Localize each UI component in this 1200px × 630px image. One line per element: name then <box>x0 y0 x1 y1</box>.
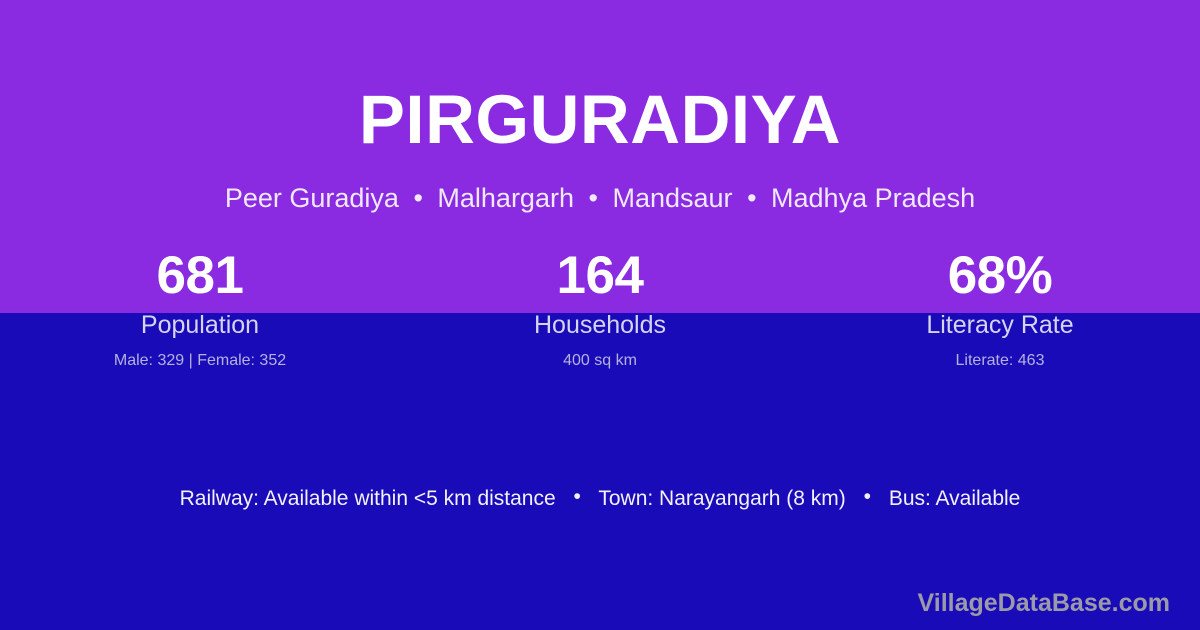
breadcrumb-separator-icon: • <box>406 183 429 214</box>
facility-separator-icon: • <box>852 483 883 510</box>
stat-sublabel: Literate: 463 <box>800 351 1200 372</box>
facility-railway: Railway: Available within <5 km distance <box>180 487 556 510</box>
breadcrumb-item-village: Peer Guradiya <box>225 183 399 213</box>
facility-bus: Bus: Available <box>889 487 1021 510</box>
facility-separator-icon: • <box>562 483 593 510</box>
stat-value: 681 <box>0 246 400 305</box>
stat-sublabel: Male: 329 | Female: 352 <box>0 351 400 372</box>
village-info-card: PIRGURADIYA Peer Guradiya • Malhargarh •… <box>0 0 1200 630</box>
site-watermark: VillageDataBase.com <box>918 588 1170 618</box>
stat-literacy-rate: 68% Literacy Rate Literate: 463 <box>800 246 1200 372</box>
page-title: PIRGURADIYA <box>0 85 1200 154</box>
breadcrumb-item-state: Madhya Pradesh <box>771 183 975 213</box>
facilities-row: Railway: Available within <5 km distance… <box>0 485 1200 512</box>
stat-value: 164 <box>400 246 800 305</box>
breadcrumb-separator-icon: • <box>582 183 605 214</box>
stat-value: 68% <box>800 246 1200 305</box>
stat-label: Households <box>400 309 800 342</box>
stat-label: Literacy Rate <box>800 309 1200 342</box>
stat-households: 164 Households 400 sq km <box>400 246 800 372</box>
breadcrumb-item-district: Mandsaur <box>612 183 732 213</box>
breadcrumb: Peer Guradiya • Malhargarh • Mandsaur • … <box>0 183 1200 214</box>
stats-row: 681 Population Male: 329 | Female: 352 1… <box>0 246 1200 372</box>
stat-label: Population <box>0 309 400 342</box>
facility-town: Town: Narayangarh (8 km) <box>598 487 845 510</box>
stat-population: 681 Population Male: 329 | Female: 352 <box>0 246 400 372</box>
breadcrumb-item-block: Malhargarh <box>437 183 574 213</box>
breadcrumb-separator-icon: • <box>740 183 763 214</box>
stat-sublabel: 400 sq km <box>400 351 800 372</box>
